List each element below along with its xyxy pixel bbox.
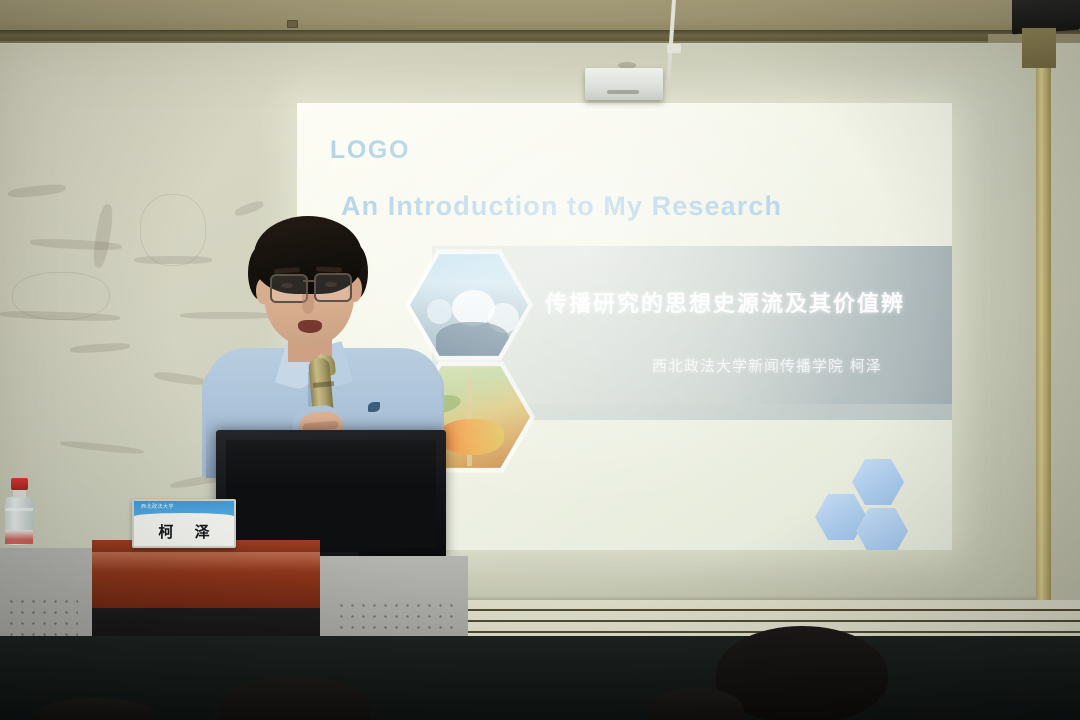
slide-logo: LOGO (330, 136, 410, 165)
name-placard: 西北政法大学 柯 泽 (132, 499, 236, 548)
decor-hexagon-1 (852, 458, 904, 506)
wall-mounted-speaker (585, 68, 663, 100)
cable-clip (667, 44, 681, 53)
placard-name: 柯 泽 (134, 521, 234, 542)
podium-monitor[interactable] (216, 430, 446, 558)
water-bottle[interactable] (4, 478, 34, 550)
photo-scene: LOGO An Introduction to My Research 传播研究… (0, 0, 1080, 720)
polo-logo-icon (368, 402, 380, 412)
ceiling (0, 0, 1080, 34)
placard-organization: 西北政法大学 (141, 503, 174, 510)
slide-author-line: 西北政法大学新闻传播学院 柯泽 (652, 355, 952, 376)
slide-chinese-title: 传播研究的思想史源流及其价值辨 (545, 286, 945, 318)
foreground-dark-row (0, 636, 1080, 720)
ceiling-fixture-screw (287, 20, 298, 28)
corner-speaker-bracket (1022, 28, 1056, 68)
whiteboard-frame-right (1036, 40, 1051, 616)
bottle-cap (11, 478, 28, 490)
